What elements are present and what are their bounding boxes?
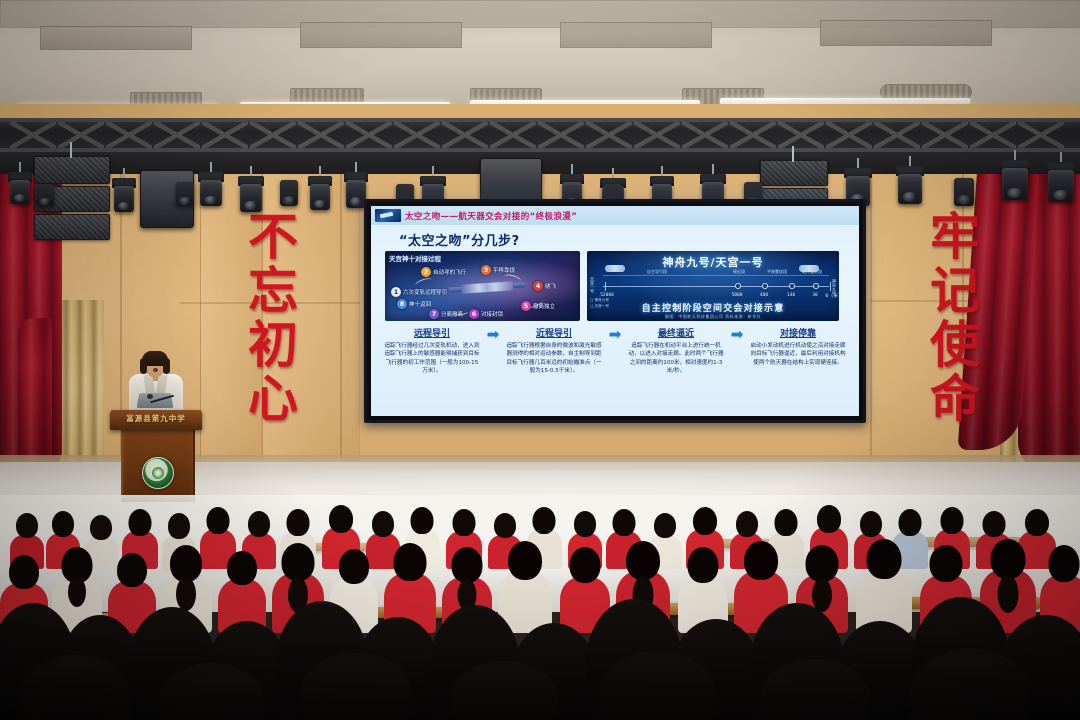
step-label: 绕飞 [545,282,556,290]
moving-head-light [1000,160,1030,200]
wall-seam [340,150,342,460]
docking-step: 8 神十返回 [397,299,431,309]
docking-step: 5 撤离独立 [521,301,555,311]
step-number: 1 [391,287,401,297]
ceiling-tile [820,20,992,46]
arrow-right-icon: ➡ [487,327,500,342]
stage-column: 最终逼近 追踪飞行器在机动平台上进行统一机动，以进入对接走廊。此时两个飞行器之间… [625,326,727,376]
slogan-right-char-3: 使 [930,320,980,370]
slogan-right: 牢 记 使 命 [930,212,980,424]
par-can-light [954,178,974,206]
slide-heading: “太空之吻”分几步? [399,230,520,249]
slogan-right-char-1: 牢 [930,212,980,262]
slogan-left-char-4: 心 [248,374,298,424]
moving-head-light [8,172,32,204]
stage-name: 近程导引 [505,326,603,339]
step-number: 3 [481,265,491,275]
moving-head-light [1046,162,1076,202]
stage-column: 远程导引 追踪飞行器经过几次变轨机动，进入到追踪飞行器上的敏感器能够捕获到目标飞… [381,326,483,376]
arrow-right-icon: ➡ [609,327,622,342]
step-label: 分离撤离 [441,310,463,318]
slide-topbar: 太空之吻——航天器交会对接的“终极浪漫” [371,206,859,225]
timeline-segment: 自主导引段 [647,269,667,275]
right-panel-title: 神舟九号/天宫一号 [662,254,763,270]
presenter-hair [163,358,170,374]
ceiling-tile [560,22,712,48]
right-panel-caption: 自主控制阶段空间交会对接示意 [642,301,785,314]
stage-body: 启动小发动机进行机动使之沿对接走廊向目标飞行器逼近，最后利用对接机构使两个航天器… [749,342,847,367]
timeline-tick: 5000 [732,293,743,298]
docking-step: 1 六次变轨远程导引 [391,287,447,297]
slogan-left-char-3: 初 [248,320,298,370]
docking-step: 6 对接封锁 [469,309,503,319]
legend-item: □ 天宫一号 [590,304,609,309]
ceiling-tile [300,22,462,48]
space-thumbnail-icon [375,209,401,222]
timeline-segment: 最终逼近段 [802,269,822,275]
stage-name: 对接停靠 [749,326,847,339]
podium-school-name: 富源县第九中学 [110,413,202,424]
diagram-legend: □ 神舟九号 □ 天宫一号 [590,298,609,309]
legend-item: □ 神舟九号 [590,298,609,303]
stage-body: 追踪飞行器根据自身的微波和激光敏感器测得的相对运动参数，自主制导到距目标飞行器几… [505,342,603,376]
lighting-truss [0,118,1080,152]
auditorium-photo: 不 忘 初 心 牢 记 使 命 [0,0,1080,720]
presentation-slide: 太空之吻——航天器交会对接的“终极浪漫” “太空之吻”分几步? 天宫神十对接过程… [371,206,859,416]
docking-step: 2 自动寻的飞行 [421,267,466,277]
docking-step: 3 平移靠拢 [481,265,515,275]
stage-body: 追踪飞行器经过几次变轨机动，进入到追踪飞行器上的敏感器能够捕获到目标飞行器的初工… [383,342,481,376]
timeline-tick: 140 [787,293,795,298]
stage-arrow: ➡ [605,327,625,342]
rendezvous-timeline-diagram: 神舟九号/天宫一号 天宫一号 神舟九号 自主导引段 接近段 平移靠拢段 最终逼近… [587,251,839,321]
timeline-tick: 30 [812,293,817,298]
moving-head-light [198,172,224,206]
step-number: 6 [469,309,479,319]
docking-process-diagram: 天宫神十对接过程 1 六次变轨远程导引 2 自动寻的飞行 3 平移靠拢 [385,251,580,321]
step-label: 对接封锁 [481,310,503,318]
docking-step: 4 绕飞 [533,281,556,291]
docking-step: 7 分离撤离 [429,309,463,319]
stage-name: 远程导引 [383,326,481,339]
audience-member [856,539,912,633]
stage-arrow: ➡ [727,327,747,342]
right-panel-subcaption: 制图：中国航天科技集团公司 资料来源：新华社 [665,314,761,320]
presenter-mouth [153,368,158,372]
step-label: 自动寻的飞行 [433,268,466,276]
docking-stages-row: 远程导引 追踪飞行器经过几次变轨机动，进入到追踪飞行器上的敏感器能够捕获到目标飞… [381,326,849,408]
step-label: 平移靠拢 [493,266,515,274]
left-panel-title: 天宫神十对接过程 [389,253,441,263]
podium: 富源县第九中学 [110,410,202,502]
slogan-right-char-2: 记 [930,266,980,316]
moving-head-light [896,166,924,204]
moving-head-light [308,176,332,210]
slogan-left-char-1: 不 [248,212,298,262]
stage-name: 最终逼近 [627,326,725,339]
step-number: 4 [533,281,543,291]
timeline-tick: 400 [760,293,768,298]
slogan-left: 不 忘 初 心 [248,212,298,424]
moving-head-light [112,178,136,212]
stage-arrow: ➡ [483,327,503,342]
step-label: 六次变轨远程导引 [403,288,447,296]
microphone [150,392,176,404]
step-label: 神十返回 [409,300,431,308]
step-number: 2 [421,267,431,277]
stage-column: 近程导引 追踪飞行器根据自身的微波和激光敏感器测得的相对运动参数，自主制导到距目… [503,326,605,376]
shenzhou-craft-icon [605,265,625,272]
timeline-segment: 接近段 [733,269,745,275]
slogan-right-char-4: 命 [930,374,980,424]
slogan-left-char-2: 忘 [248,266,298,316]
presenter-hair [140,358,147,374]
par-can-light [176,182,194,206]
step-label: 撤离独立 [533,302,555,310]
step-number: 7 [429,309,439,319]
par-can-light [36,184,54,206]
step-number: 8 [397,299,407,309]
spacecraft-illustration [461,281,514,294]
audience-member [498,541,552,633]
step-number: 5 [521,301,531,311]
audience [0,495,1080,720]
axis-label-left: 天宫一号 [589,277,595,293]
podium-body [121,429,195,502]
moving-head-light [238,176,264,212]
timeline-tick: 0 (米) [825,293,839,299]
timeline-segment: 平移靠拢段 [767,269,787,275]
stage-body: 追踪飞行器在机动平台上进行统一机动，以进入对接走廊。此时两个飞行器之间的距离约1… [627,342,725,376]
stage-column: 对接停靠 启动小发动机进行机动使之沿对接走廊向目标飞行器逼近，最后利用对接机构使… [747,326,849,367]
red-curtain-left-fold [18,318,52,478]
par-can-light [280,180,298,206]
school-crest-icon [142,457,174,489]
ceiling-tile [40,26,192,50]
arrow-right-icon: ➡ [731,327,744,342]
slide-topbar-title: 太空之吻——航天器交会对接的“终极浪漫” [405,210,577,222]
led-presentation-screen[interactable]: 太空之吻——航天器交会对接的“终极浪漫” “太空之吻”分几步? 天宫神十对接过程… [364,199,866,423]
